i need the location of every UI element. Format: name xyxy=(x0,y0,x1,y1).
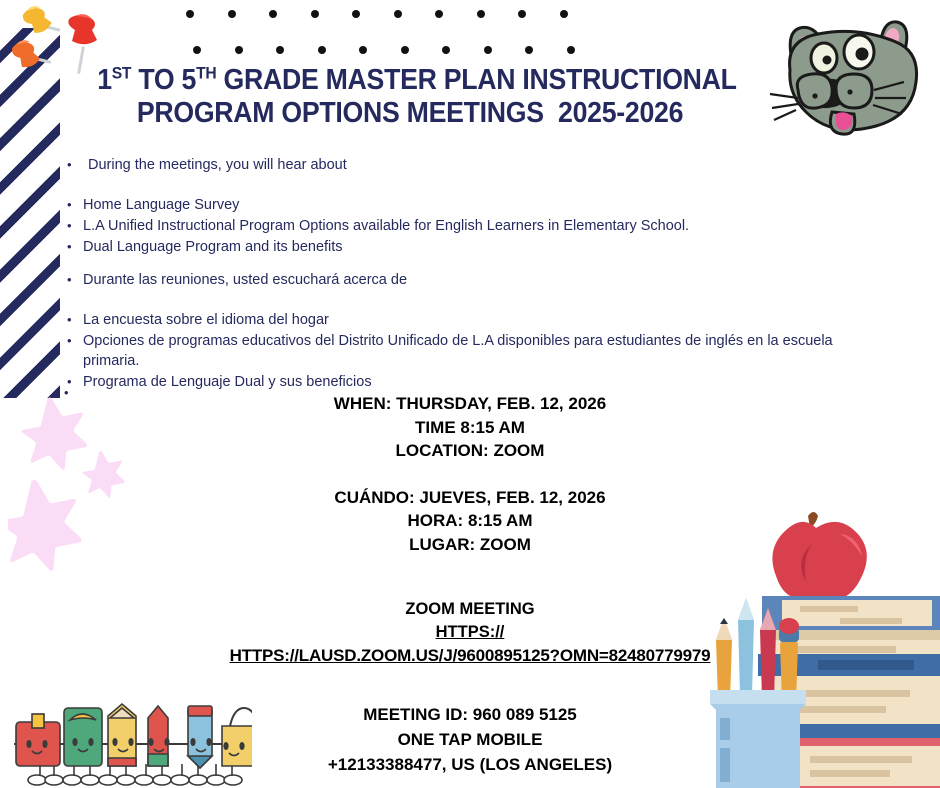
meeting-id-info: MEETING ID: 960 089 5125 ONE TAP MOBILE … xyxy=(120,702,820,777)
time-line-en: TIME 8:15 AM xyxy=(120,416,820,440)
spanish-bullet-list: • Durante las reuniones, usted escuchará… xyxy=(64,270,884,393)
bullet-glyph: • xyxy=(64,331,83,351)
title-to-5: TO 5 xyxy=(131,64,196,96)
list-item: • Dual Language Program and its benefits xyxy=(64,237,884,257)
dot xyxy=(435,10,443,18)
location-line-es: LUGAR: ZOOM xyxy=(120,533,820,557)
one-tap-phone-number[interactable]: +12133388477, US (LOS ANGELES) xyxy=(120,752,820,777)
dot xyxy=(186,10,194,18)
dot xyxy=(359,46,367,54)
bullet-glyph: • xyxy=(64,155,83,175)
dot xyxy=(567,46,575,54)
english-bullet-list: • During the meetings, you will hear abo… xyxy=(64,155,884,258)
dot-row xyxy=(193,46,575,54)
zoom-protocol-link[interactable]: HTTPS:// xyxy=(120,621,820,644)
meeting-id-line: MEETING ID: 960 089 5125 xyxy=(120,702,820,727)
zoom-meeting-info: ZOOM MEETING HTTPS:// HTTPS://LAUSD.ZOOM… xyxy=(120,598,820,667)
dot xyxy=(484,46,492,54)
when-line-es: CUÁNDO: JUEVES, FEB. 12, 2026 xyxy=(120,486,820,510)
flyer-canvas: 1ST TO 5TH GRADE MASTER PLAN INSTRUCTION… xyxy=(0,0,940,788)
time-line-es: HORA: 8:15 AM xyxy=(120,509,820,533)
list-item-label: La encuesta sobre el idioma del hogar xyxy=(83,310,884,330)
bullet-glyph: • xyxy=(64,237,83,257)
list-item-label: Home Language Survey xyxy=(83,195,884,215)
dot xyxy=(318,46,326,54)
list-item-label: Opciones de programas educativos del Dis… xyxy=(83,331,884,371)
title-grade-1: 1 xyxy=(97,64,112,96)
empty-bullet-glyph: • xyxy=(64,385,84,400)
bullet-glyph: • xyxy=(64,270,83,290)
dot-row xyxy=(186,10,575,18)
list-item: • La encuesta sobre el idioma del hogar xyxy=(64,310,884,330)
bullet-glyph: • xyxy=(64,216,83,236)
dot xyxy=(352,10,360,18)
dot xyxy=(228,10,236,18)
list-item: • During the meetings, you will hear abo… xyxy=(64,155,884,175)
dot xyxy=(477,10,485,18)
title-line-1: 1ST TO 5TH GRADE MASTER PLAN INSTRUCTION… xyxy=(97,64,723,97)
bullet-glyph: • xyxy=(64,310,83,330)
zoom-meeting-heading: ZOOM MEETING xyxy=(120,598,820,621)
location-line-en: LOCATION: ZOOM xyxy=(120,439,820,463)
title-line-2: PROGRAM OPTIONS MEETINGS 2025-2026 xyxy=(97,97,723,130)
dot xyxy=(518,10,526,18)
list-item: • L.A Unified Instructional Program Opti… xyxy=(64,216,884,236)
dot xyxy=(525,46,533,54)
list-item: • Durante las reuniones, usted escuchará… xyxy=(64,270,884,290)
dot xyxy=(560,10,568,18)
zoom-meeting-link[interactable]: HTTPS://LAUSD.ZOOM.US/J/9600895125?OMN=8… xyxy=(120,644,820,667)
list-item-label: L.A Unified Instructional Program Option… xyxy=(83,216,884,236)
one-tap-mobile-label: ONE TAP MOBILE xyxy=(120,727,820,752)
bullet-glyph: • xyxy=(64,195,83,215)
flyer-title: 1ST TO 5TH GRADE MASTER PLAN INSTRUCTION… xyxy=(70,64,750,130)
dot xyxy=(235,46,243,54)
when-line-en: WHEN: THURSDAY, FEB. 12, 2026 xyxy=(120,392,820,416)
dot xyxy=(276,46,284,54)
dot xyxy=(394,10,402,18)
list-item-label: Dual Language Program and its benefits xyxy=(83,237,884,257)
list-item-label: Durante las reuniones, usted escuchará a… xyxy=(83,270,884,290)
title-line1-rest: GRADE MASTER PLAN INSTRUCTIONAL xyxy=(216,64,736,96)
cat-head-icon xyxy=(762,8,940,148)
list-item-label: Programa de Lenguaje Dual y sus benefici… xyxy=(83,372,884,392)
dot xyxy=(311,10,319,18)
meeting-logistics: WHEN: THURSDAY, FEB. 12, 2026 TIME 8:15 … xyxy=(120,392,820,556)
list-item: • Home Language Survey xyxy=(64,195,884,215)
spacer xyxy=(120,463,820,486)
list-item-label: During the meetings, you will hear about xyxy=(83,155,884,175)
list-item: • Programa de Lenguaje Dual y sus benefi… xyxy=(64,372,884,392)
dot xyxy=(401,46,409,54)
title-ordinal-th: TH xyxy=(196,63,216,82)
title-ordinal-st: ST xyxy=(112,63,131,82)
dot xyxy=(193,46,201,54)
list-item: • Opciones de programas educativos del D… xyxy=(64,331,884,371)
dot xyxy=(442,46,450,54)
dot xyxy=(269,10,277,18)
